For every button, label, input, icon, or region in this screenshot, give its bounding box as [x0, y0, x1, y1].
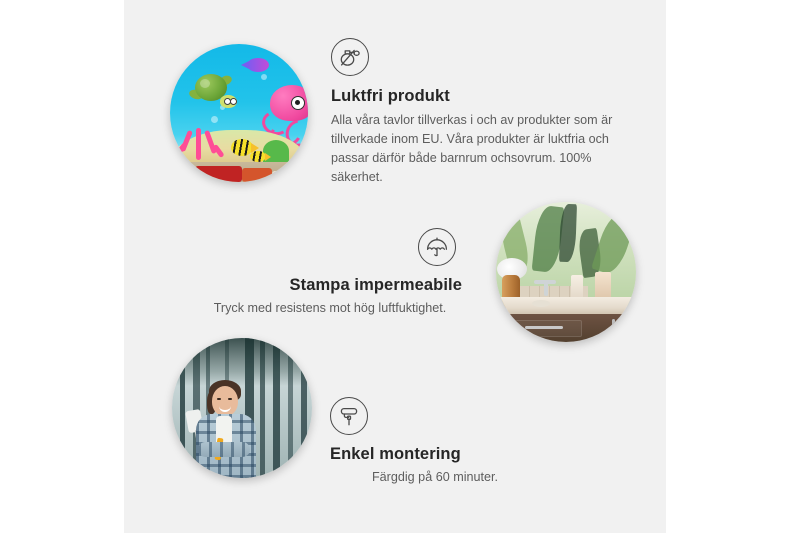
forest-canopy	[172, 338, 312, 386]
feature-body: Tryck med resistens mot hög luftfuktighe…	[196, 299, 464, 318]
feature-body: Alla våra tavlor tillverkas i och av pro…	[331, 111, 631, 188]
faucet	[544, 280, 548, 296]
coral-branch	[213, 144, 225, 158]
feature-waterproof-print: Stampa impermeabile Tryck med resistens …	[196, 228, 464, 318]
folded-arms	[198, 442, 250, 457]
underwater-scene	[170, 44, 308, 182]
no-perfume-icon	[331, 38, 369, 76]
striped-fish	[231, 139, 253, 156]
cabinet-handle	[612, 319, 615, 342]
countertop	[496, 297, 636, 315]
drawer-handle	[525, 326, 563, 329]
feature-odour-free: Luktfri produkt Alla våra tavlor tillver…	[331, 38, 631, 187]
coral-branch	[196, 128, 201, 160]
wooden-vanity	[507, 314, 636, 342]
foreground-object	[242, 168, 272, 182]
feature-title: Luktfri produkt	[331, 86, 631, 107]
feature-title: Stampa impermeabile	[196, 275, 462, 296]
image-woman-with-paint-roller-forest[interactable]	[172, 338, 312, 478]
purple-fish	[247, 58, 269, 72]
striped-fish	[250, 151, 266, 162]
paint-roller-icon	[330, 397, 368, 435]
screenshot-root: Luktfri produkt Alla våra tavlor tillver…	[0, 0, 800, 533]
image-underwater-kids-mural[interactable]	[170, 44, 308, 182]
rolled-towel	[571, 275, 583, 299]
pink-coral	[178, 118, 224, 160]
bathroom-scene	[496, 202, 636, 342]
feature-body: Färgdig på 60 minuter.	[330, 468, 540, 487]
foreground-strip	[170, 162, 308, 182]
foreground-object	[272, 171, 289, 182]
foreground-object	[195, 166, 242, 182]
sea-turtle	[189, 74, 233, 107]
image-bathroom-tropical-wallpaper[interactable]	[496, 202, 636, 342]
woman-figure	[192, 380, 264, 478]
feature-easy-mounting: Enkel montering Färgdig på 60 minuter.	[330, 397, 540, 487]
eye	[217, 398, 221, 400]
leaf-shape	[559, 204, 577, 263]
feature-title: Enkel montering	[330, 444, 540, 465]
eye	[228, 398, 232, 400]
umbrella-icon	[418, 228, 456, 266]
forest-scene	[172, 338, 312, 478]
